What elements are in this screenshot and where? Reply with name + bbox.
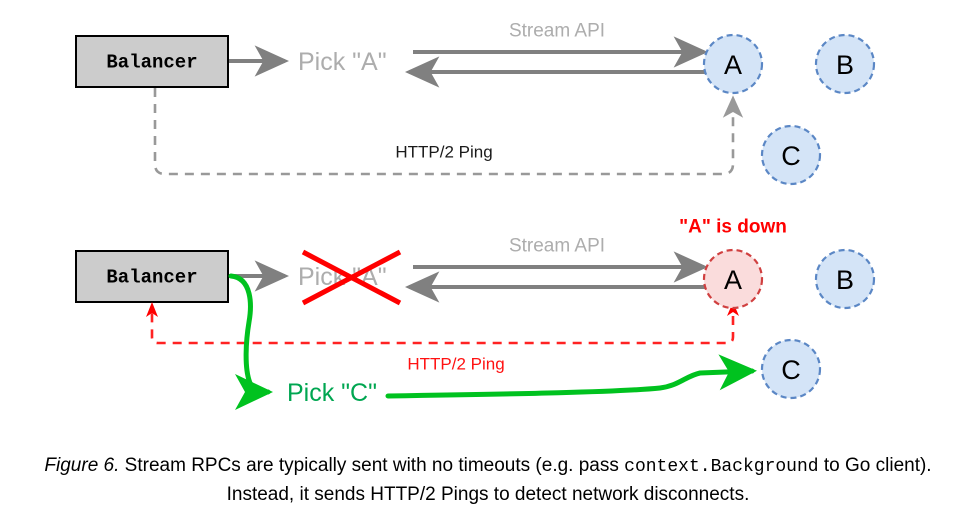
node-a-bottom[interactable]: A bbox=[704, 250, 762, 308]
stream-api-label-bottom: Stream API bbox=[509, 236, 605, 257]
node-b-top[interactable]: B bbox=[816, 35, 874, 93]
node-a-top-label: A bbox=[724, 50, 742, 80]
figure-number: Figure 6. bbox=[44, 455, 119, 476]
node-c-top-label: C bbox=[781, 141, 801, 171]
balancer-box-bottom-label: Balancer bbox=[106, 267, 197, 289]
node-a-top[interactable]: A bbox=[704, 35, 762, 93]
node-c-top[interactable]: C bbox=[762, 126, 820, 184]
balancer-box-bottom[interactable]: Balancer bbox=[76, 251, 228, 302]
pick-label-new-bottom: Pick "C" bbox=[287, 379, 377, 407]
http2-ping-label-bottom: HTTP/2 Ping bbox=[407, 355, 504, 374]
pick-label-top: Pick "A" bbox=[298, 48, 387, 76]
diagram-top-group: Balancer Pick "A" Stream API HTTP/2 Ping… bbox=[76, 21, 874, 185]
balancer-box-top-label: Balancer bbox=[106, 52, 197, 74]
figure-caption: Figure 6. Stream RPCs are typically sent… bbox=[18, 452, 958, 509]
diagram-bottom-group: Balancer Pick "A" Stream API bbox=[76, 217, 874, 408]
pick-c-to-node-c-line bbox=[388, 371, 752, 396]
node-a-bottom-label: A bbox=[724, 265, 742, 295]
node-b-bottom-label: B bbox=[836, 265, 854, 295]
caption-text-part1: Stream RPCs are typically sent with no t… bbox=[119, 455, 624, 476]
node-c-bottom-label: C bbox=[781, 355, 801, 385]
caption-code-literal: context.Background bbox=[624, 457, 818, 477]
node-b-bottom[interactable]: B bbox=[816, 250, 874, 308]
figure-6-root: Balancer Pick "A" Stream API HTTP/2 Ping… bbox=[0, 0, 976, 525]
node-c-bottom[interactable]: C bbox=[762, 340, 820, 398]
stream-api-label-top: Stream API bbox=[509, 21, 605, 42]
node-b-top-label: B bbox=[836, 50, 854, 80]
diagram-canvas: Balancer Pick "A" Stream API HTTP/2 Ping… bbox=[0, 0, 976, 525]
http2-ping-path-bottom bbox=[152, 300, 733, 343]
http2-ping-label-top: HTTP/2 Ping bbox=[395, 143, 492, 162]
failover-curve bbox=[231, 276, 268, 392]
balancer-box-top[interactable]: Balancer bbox=[76, 36, 228, 87]
status-badge-a-down: "A" is down bbox=[679, 217, 787, 238]
